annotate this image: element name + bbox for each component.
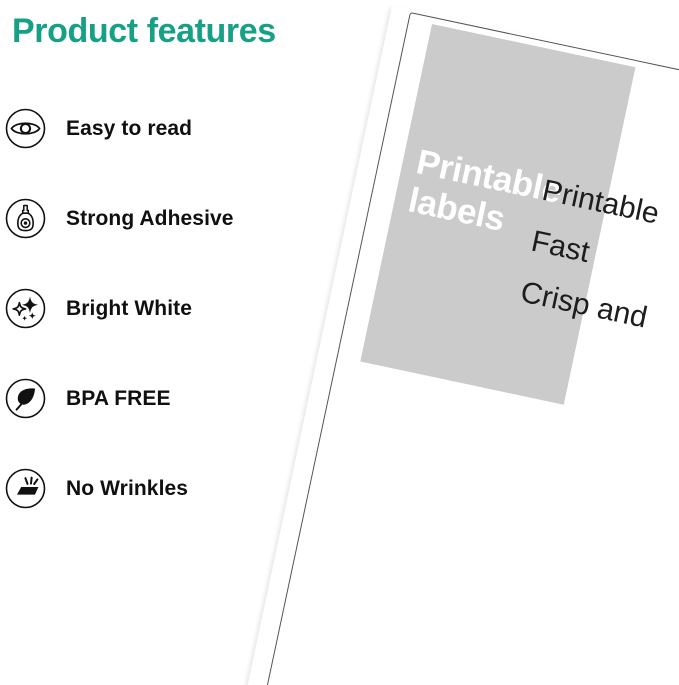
flat-sheet-icon [5, 468, 46, 509]
feature-label-bpa-free: BPA FREE [66, 378, 171, 419]
feature-label-easy-to-read: Easy to read [66, 108, 192, 149]
feature-item-no-wrinkles: No Wrinkles [0, 468, 330, 558]
feature-list: Easy to read Strong Adhesive [0, 108, 330, 558]
feature-item-strong-adhesive: Strong Adhesive [0, 198, 330, 288]
feature-item-easy-to-read: Easy to read [0, 108, 330, 198]
feature-label-no-wrinkles: No Wrinkles [66, 468, 188, 509]
eye-icon [5, 108, 46, 149]
page-title: Product features [12, 12, 276, 51]
feature-item-bright-white: Bright White [0, 288, 330, 378]
leaf-icon [5, 378, 46, 419]
sparkles-icon [5, 288, 46, 329]
feature-label-bright-white: Bright White [66, 288, 192, 329]
product-features-panel: Product features Easy to read [0, 0, 330, 685]
feature-label-strong-adhesive: Strong Adhesive [66, 198, 234, 239]
glue-bottle-icon [5, 198, 46, 239]
feature-item-bpa-free: BPA FREE [0, 378, 330, 468]
